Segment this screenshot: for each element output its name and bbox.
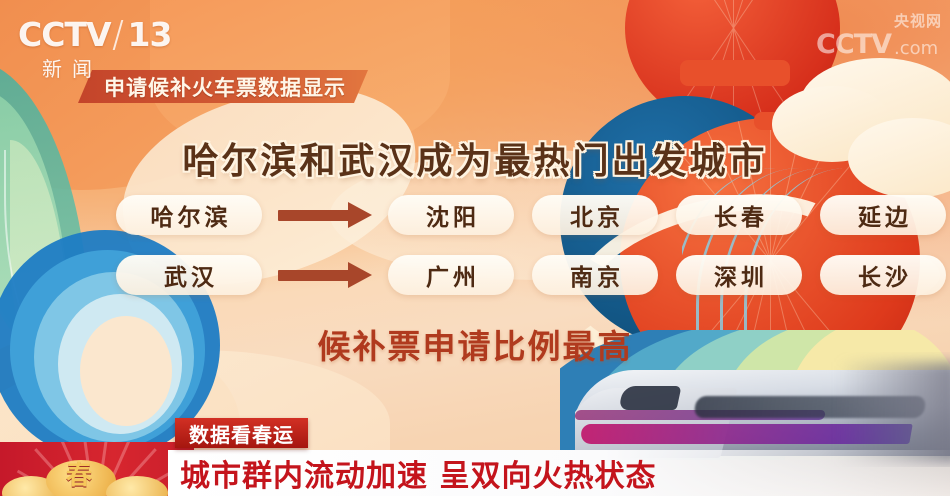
destination-chip: 北京	[532, 195, 658, 235]
destination-chip: 深圳	[676, 255, 802, 295]
channel-logo-main: CCTV 13	[18, 18, 171, 51]
watermark-cn: 央视网	[894, 14, 942, 29]
origin-chip: 哈尔滨	[116, 195, 262, 235]
destination-chip: 长沙	[820, 255, 946, 295]
destination-chip: 南京	[532, 255, 658, 295]
watermark-com: .com	[894, 40, 938, 58]
destination-chip: 延边	[820, 195, 946, 235]
destination-chip: 沈阳	[388, 195, 514, 235]
route-row: 哈尔滨 沈阳 北京 长春 延边	[0, 192, 950, 238]
logo-slash-divider	[112, 20, 123, 50]
watermark-cctv: CCTV	[816, 31, 891, 58]
route-rows: 哈尔滨 沈阳 北京 长春 延边 武汉 广州 南京 深圳 长沙	[0, 192, 950, 312]
page-title: 哈尔滨和武汉成为最热门出发城市	[0, 132, 950, 184]
origin-chip: 武汉	[116, 255, 262, 295]
spring-character: 春	[66, 455, 92, 492]
segment-tag: 数据看春运	[175, 418, 308, 448]
route-row: 武汉 广州 南京 深圳 长沙	[0, 252, 950, 298]
lantern-cap-1	[680, 60, 790, 86]
channel-logo-number: 13	[128, 18, 172, 51]
destination-chip: 长春	[676, 195, 802, 235]
watermark-right-col: 央视网 .com	[894, 14, 942, 58]
channel-logo-cctv: CCTV	[18, 18, 111, 51]
spring-festival-decor: 春	[0, 442, 194, 496]
channel-logo: CCTV 13 新闻	[18, 18, 171, 82]
lower-third-bar: 城市群内流动加速 呈双向火热状态	[168, 450, 950, 496]
arrow-right-icon	[278, 208, 372, 222]
cctv-watermark: CCTV 央视网 .com	[816, 14, 942, 58]
channel-logo-sub: 新闻	[42, 53, 102, 82]
sub-headline: 候补票申请比例最高	[0, 320, 950, 368]
lower-third-headline: 城市群内流动加速 呈双向火热状态	[180, 451, 656, 495]
segment-tag-label: 数据看春运	[189, 419, 294, 448]
arrow-right-icon	[278, 268, 372, 282]
broadcast-screen: 春 CCTV 13 新闻 CCTV 央视网 .com 申请候补火车票数据显示 哈…	[0, 0, 950, 496]
destination-chip: 广州	[388, 255, 514, 295]
